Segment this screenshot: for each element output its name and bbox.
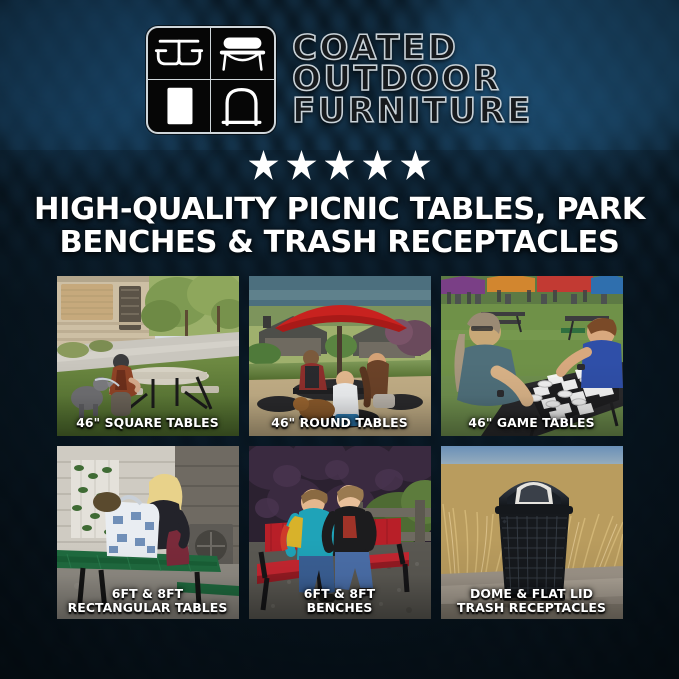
product-caption-round-tables: 46" ROUND TABLES [249, 416, 431, 430]
caption-line-2: BENCHES [253, 601, 427, 615]
product-caption-benches: 6FT & 8FT BENCHES [249, 587, 431, 615]
product-caption-rectangular-tables: 6FT & 8FT RECTANGULAR TABLES [57, 587, 239, 615]
product-tile-trash-receptacles[interactable]: DOME & FLAT LID TRASH RECEPTACLES [441, 446, 623, 619]
product-caption-square-tables: 46" SQUARE TABLES [57, 416, 239, 430]
trash-receptacle-icon [148, 80, 211, 132]
logo-icon-grid [146, 26, 276, 134]
caption-line-1: 46" SQUARE TABLES [61, 416, 235, 430]
product-tile-round-tables[interactable]: 46" ROUND TABLES [249, 276, 431, 436]
headline-line-1: HIGH-QUALITY PICNIC TABLES, PARK [24, 194, 655, 227]
product-tile-rectangular-tables[interactable]: 6FT & 8FT RECTANGULAR TABLES [57, 446, 239, 619]
star-icon [363, 150, 393, 180]
star-rating [0, 150, 679, 180]
brand-logo: COATED OUTDOOR FURNITURE [0, 0, 679, 134]
product-caption-game-tables: 46" GAME TABLES [441, 416, 623, 430]
caption-line-1: 46" GAME TABLES [445, 416, 619, 430]
square-picnic-table-icon [148, 28, 211, 80]
park-bench-icon [211, 28, 274, 80]
headline-line-2: BENCHES & TRASH RECEPTACLES [24, 227, 655, 260]
star-icon [287, 150, 317, 180]
product-tile-benches[interactable]: 6FT & 8FT BENCHES [249, 446, 431, 619]
product-tile-game-tables[interactable]: 46" GAME TABLES [441, 276, 623, 436]
product-grid: 46" SQUARE TABLES [57, 276, 623, 619]
star-icon [401, 150, 431, 180]
brand-line-3: FURNITURE [292, 96, 533, 127]
star-icon [325, 150, 355, 180]
caption-line-1: 6FT & 8FT [253, 587, 427, 601]
product-tile-square-tables[interactable]: 46" SQUARE TABLES [57, 276, 239, 436]
caption-line-1: 6FT & 8FT [61, 587, 235, 601]
star-icon [249, 150, 279, 180]
brand-name: COATED OUTDOOR FURNITURE [292, 33, 533, 127]
caption-line-1: DOME & FLAT LID [445, 587, 619, 601]
caption-line-2: TRASH RECEPTACLES [445, 601, 619, 615]
poster-content: COATED OUTDOOR FURNITURE HIGH-QUALITY PI… [0, 0, 679, 679]
caption-line-2: RECTANGULAR TABLES [61, 601, 235, 615]
product-caption-trash-receptacles: DOME & FLAT LID TRASH RECEPTACLES [441, 587, 623, 615]
page-title: HIGH-QUALITY PICNIC TABLES, PARK BENCHES… [0, 194, 679, 260]
arched-bike-rack-icon [211, 80, 274, 132]
caption-line-1: 46" ROUND TABLES [253, 416, 427, 430]
